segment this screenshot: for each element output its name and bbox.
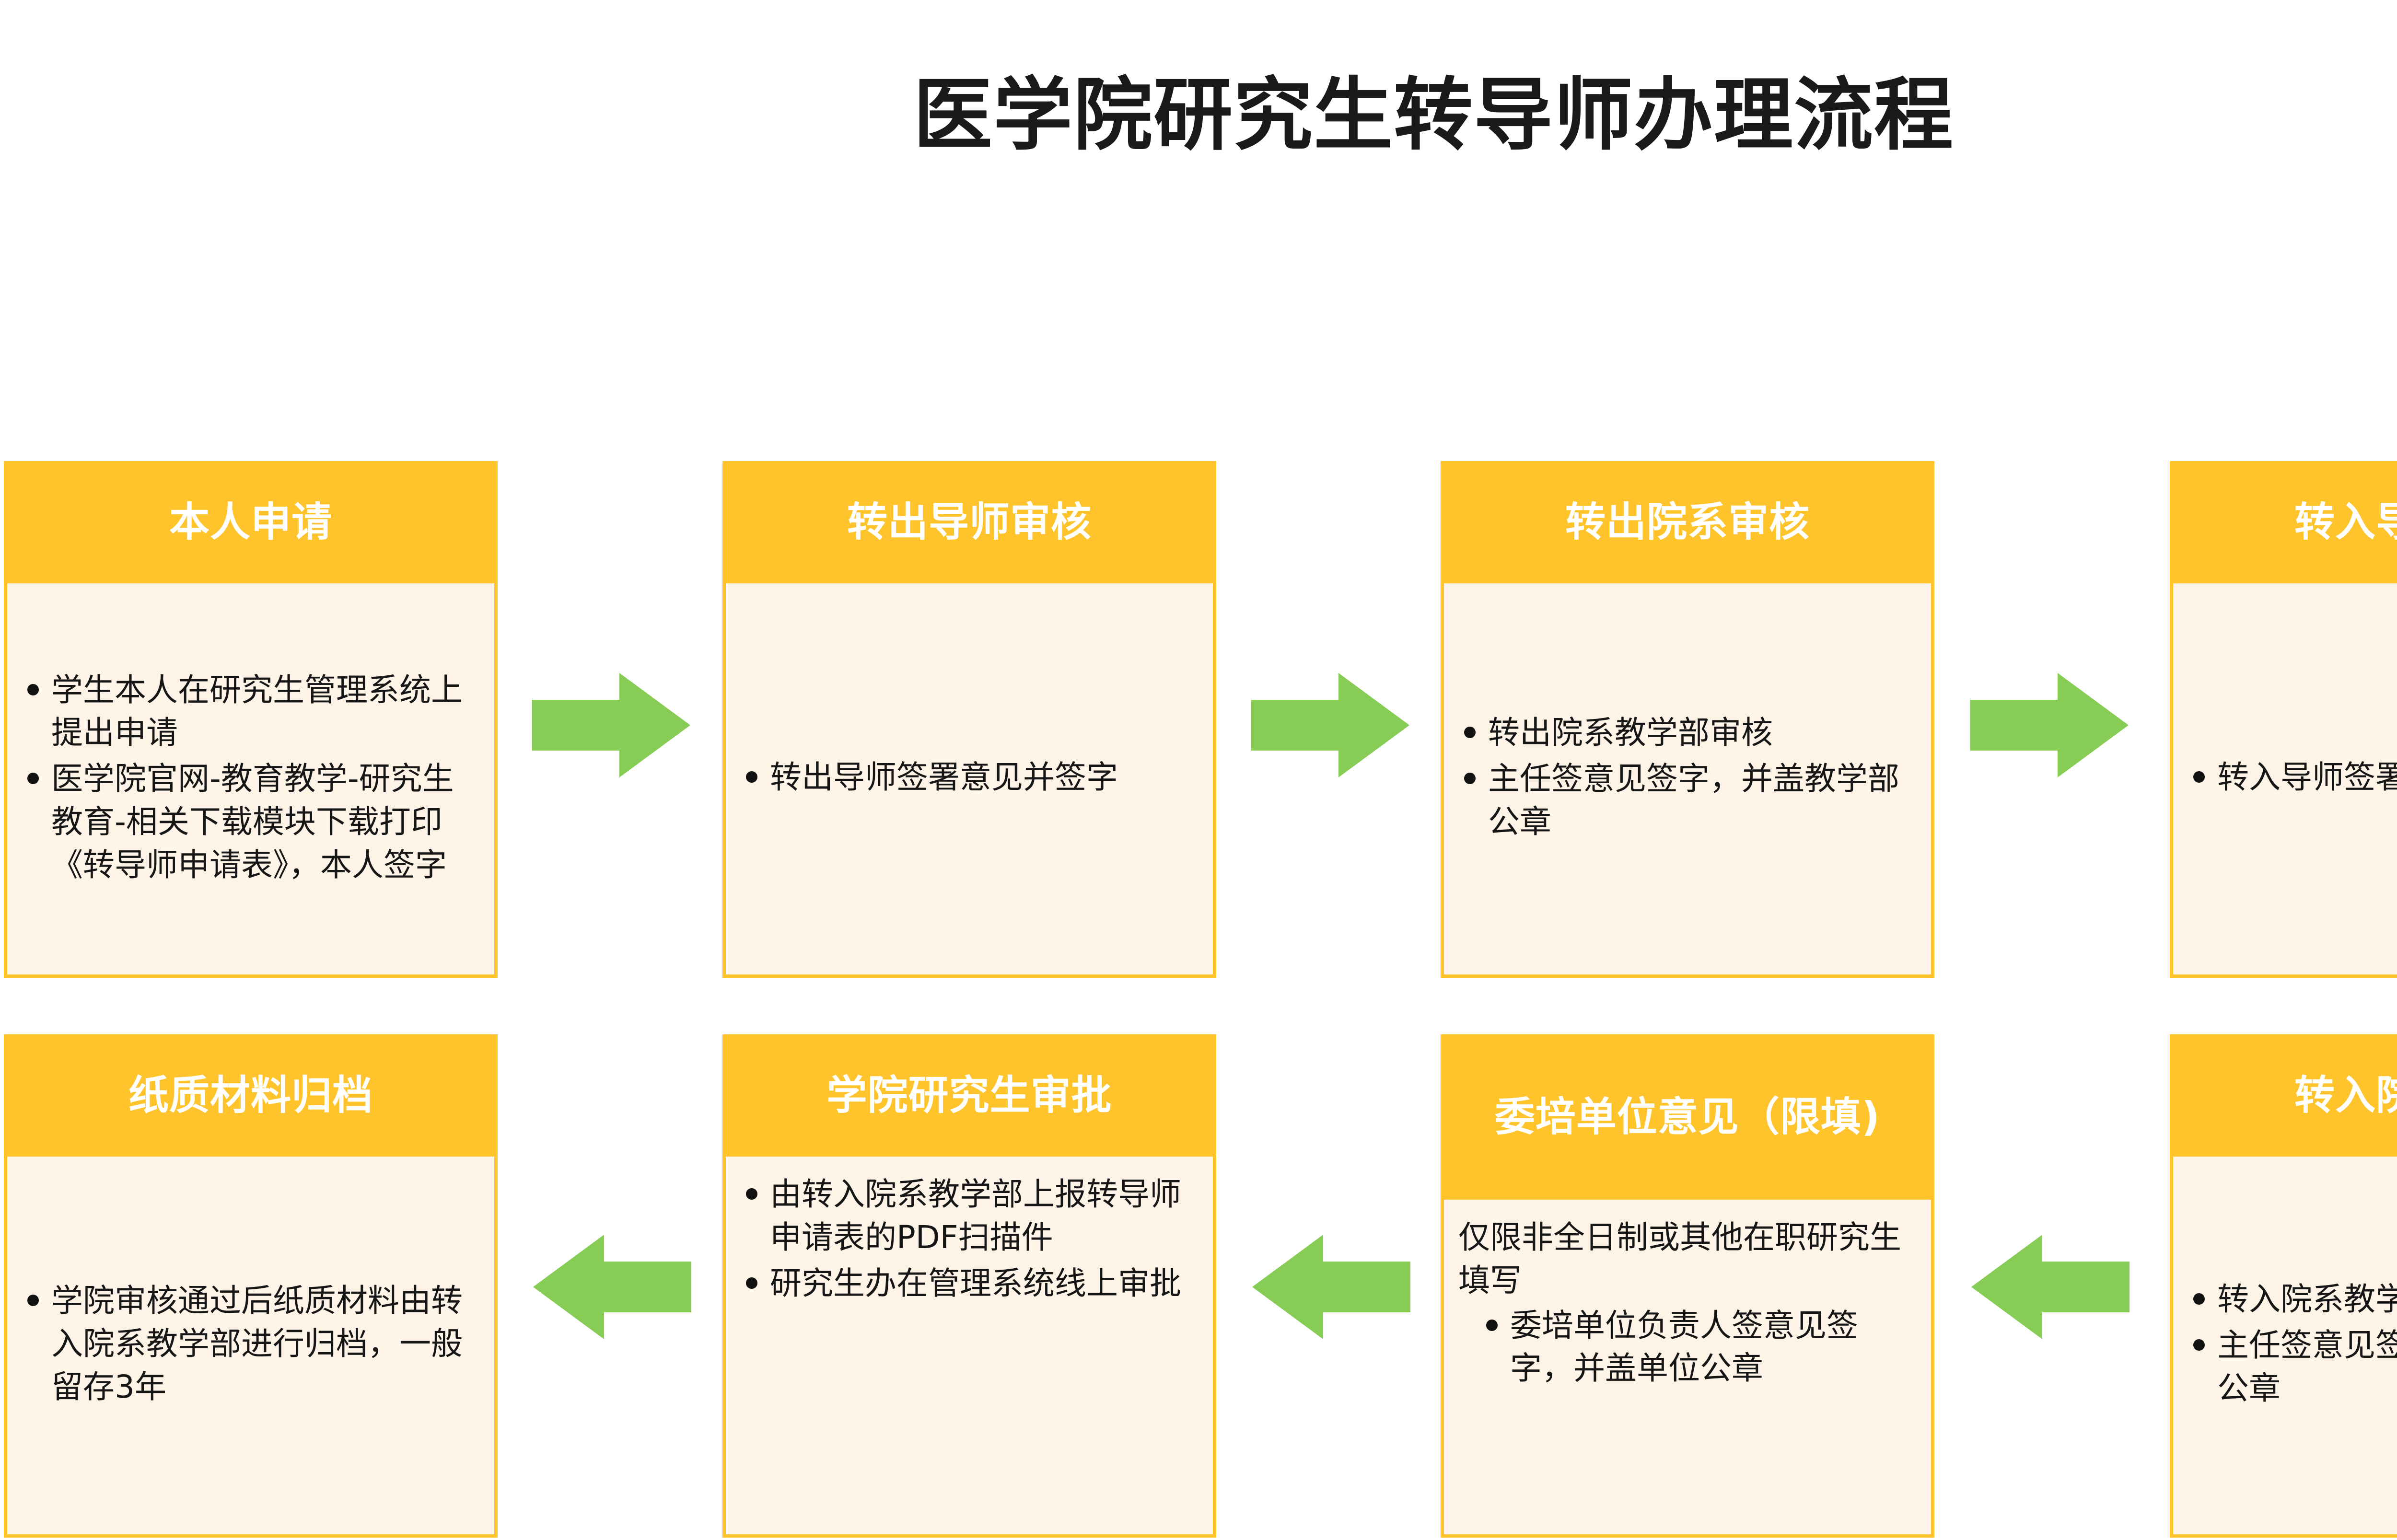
list-item: 医学院官网-教育教学-研究生教育-相关下载模块下载打印《转导师申请表》，本人签字 (22, 757, 474, 886)
step-7-body: 由转入院系教学部上报转导师申请表的PDF扫描件 研究生办在管理系统线上审批 (722, 1157, 1216, 1538)
step-2-bullet-list: 转出导师签署意见并签字 (740, 756, 1193, 802)
list-item: 委培单位负责人签意见签字，并盖单位公章 (1480, 1304, 1911, 1390)
step-6-body: 仅限非全日制或其他在职研究生填写 委培单位负责人签意见签字，并盖单位公章 (1441, 1200, 1934, 1538)
arrow-left-icon-1 (1971, 1232, 2129, 1342)
step-4-bullet-list: 转入导师签署意见并签字 (2188, 756, 2397, 802)
list-item: 转入导师签署意见并签字 (2188, 756, 2397, 799)
list-item: 转出院系教学部审核 (1458, 711, 1911, 754)
step-2-header: 转出导师审核 (722, 461, 1216, 583)
step-1-header: 本人申请 (4, 461, 498, 583)
step-5-bullet-list: 转入院系教学部审核 主任签意见签字，并盖教学部公章 (2188, 1278, 2397, 1413)
list-item: 转出导师签署意见并签字 (740, 756, 1193, 799)
step-8-bullet-list: 学院审核通过后纸质材料由转入院系教学部进行归档，一般留存3年 (22, 1279, 474, 1411)
list-item: 主任签意见签字，并盖教学部公章 (1458, 757, 1911, 844)
step-6-bullet-list: 委培单位负责人签意见签字，并盖单位公章 (1458, 1304, 1911, 1393)
step-6-paragraph: 仅限非全日制或其他在职研究生填写 (1458, 1216, 1911, 1302)
step-6-header: 委培单位意见（限填) (1441, 1034, 1934, 1200)
step-8-header: 纸质材料归档 (4, 1034, 498, 1157)
list-item: 研究生办在管理系统线上审批 (740, 1262, 1193, 1305)
arrow-right-icon-1 (532, 670, 690, 780)
arrow-left-icon-3 (533, 1232, 691, 1342)
step-1-body: 学生本人在研究生管理系统上提出申请 医学院官网-教育教学-研究生教育-相关下载模… (4, 583, 498, 978)
list-item: 转入院系教学部审核 (2188, 1278, 2397, 1321)
list-item: 主任签意见签字，并盖教学部公章 (2188, 1324, 2397, 1410)
step-8-body: 学院审核通过后纸质材料由转入院系教学部进行归档，一般留存3年 (4, 1157, 498, 1538)
step-card-5: 转入院系审核 转入院系教学部审核 主任签意见签字，并盖教学部公章 (2170, 1034, 2397, 1538)
step-card-3: 转出院系审核 转出院系教学部审核 主任签意见签字，并盖教学部公章 (1441, 461, 1934, 978)
step-card-2: 转出导师审核 转出导师签署意见并签字 (722, 461, 1216, 978)
step-5-body: 转入院系教学部审核 主任签意见签字，并盖教学部公章 (2170, 1157, 2397, 1538)
step-3-header: 转出院系审核 (1441, 461, 1934, 583)
step-2-body: 转出导师签署意见并签字 (722, 583, 1216, 978)
step-7-header: 学院研究生审批 (722, 1034, 1216, 1157)
arrow-left-icon-2 (1252, 1232, 1410, 1342)
list-item: 学院审核通过后纸质材料由转入院系教学部进行归档，一般留存3年 (22, 1279, 474, 1408)
step-1-bullet-list: 学生本人在研究生管理系统上提出申请 医学院官网-教育教学-研究生教育-相关下载模… (22, 669, 474, 890)
list-item: 由转入院系教学部上报转导师申请表的PDF扫描件 (740, 1173, 1193, 1259)
step-7-bullet-list: 由转入院系教学部上报转导师申请表的PDF扫描件 研究生办在管理系统线上审批 (740, 1173, 1193, 1308)
step-card-4: 转入导师审核 转入导师签署意见并签字 (2170, 461, 2397, 978)
step-card-7: 学院研究生审批 由转入院系教学部上报转导师申请表的PDF扫描件 研究生办在管理系… (722, 1034, 1216, 1538)
arrow-right-icon-3 (1970, 670, 2129, 780)
arrow-right-icon-2 (1251, 670, 1409, 780)
step-3-body: 转出院系教学部审核 主任签意见签字，并盖教学部公章 (1441, 583, 1934, 978)
step-3-bullet-list: 转出院系教学部审核 主任签意见签字，并盖教学部公章 (1458, 711, 1911, 846)
step-4-header: 转入导师审核 (2170, 461, 2397, 583)
step-card-8: 纸质材料归档 学院审核通过后纸质材料由转入院系教学部进行归档，一般留存3年 (4, 1034, 498, 1538)
step-card-1: 本人申请 学生本人在研究生管理系统上提出申请 医学院官网-教育教学-研究生教育-… (4, 461, 498, 978)
step-card-6: 委培单位意见（限填) 仅限非全日制或其他在职研究生填写 委培单位负责人签意见签字… (1441, 1034, 1934, 1538)
list-item: 学生本人在研究生管理系统上提出申请 (22, 669, 474, 755)
step-4-body: 转入导师签署意见并签字 (2170, 583, 2397, 978)
step-5-header: 转入院系审核 (2170, 1034, 2397, 1157)
page-title: 医学院研究生转导师办理流程 (0, 72, 2397, 159)
